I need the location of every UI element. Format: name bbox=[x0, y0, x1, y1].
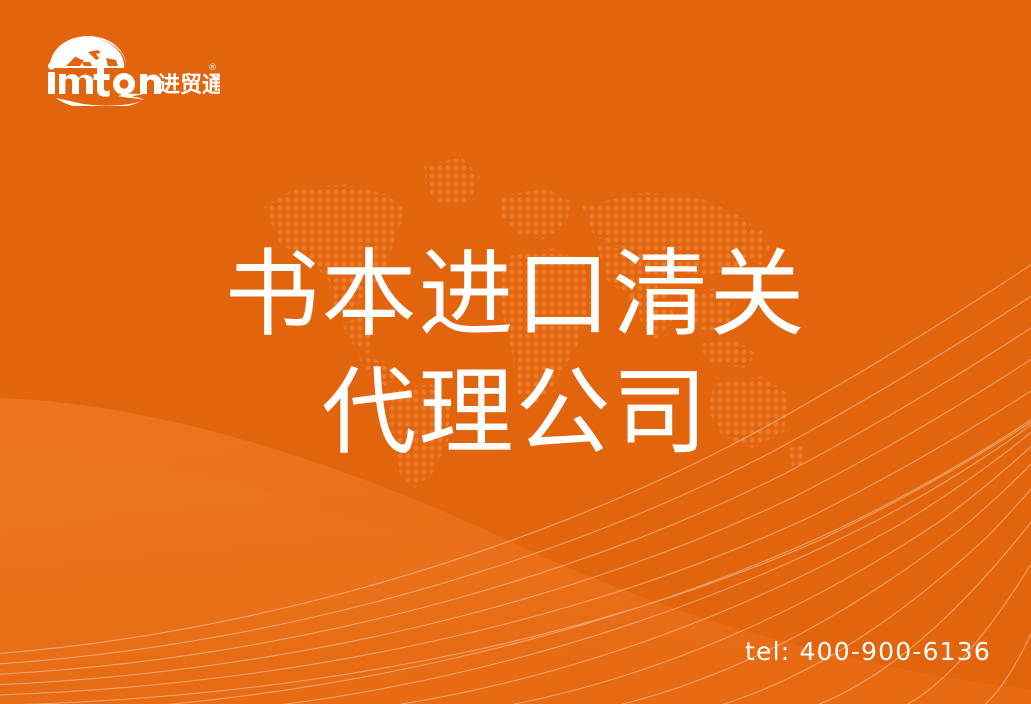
registered-trademark-icon: ® bbox=[208, 63, 217, 73]
contact-phone[interactable]: tel: 400-900-6136 bbox=[745, 637, 991, 666]
logo-cn-text: 进贸通 bbox=[158, 73, 220, 98]
title-line-1: 书本进口清关 bbox=[0, 236, 1031, 354]
brand-logo[interactable]: 进贸通 ® bbox=[40, 26, 220, 106]
globe-arc-icon bbox=[50, 36, 126, 68]
page-title: 书本进口清关 代理公司 bbox=[0, 236, 1031, 472]
title-line-2: 代理公司 bbox=[0, 354, 1031, 472]
promo-banner: 进贸通 ® 书本进口清关 代理公司 tel: 400-900-6136 bbox=[0, 0, 1031, 704]
